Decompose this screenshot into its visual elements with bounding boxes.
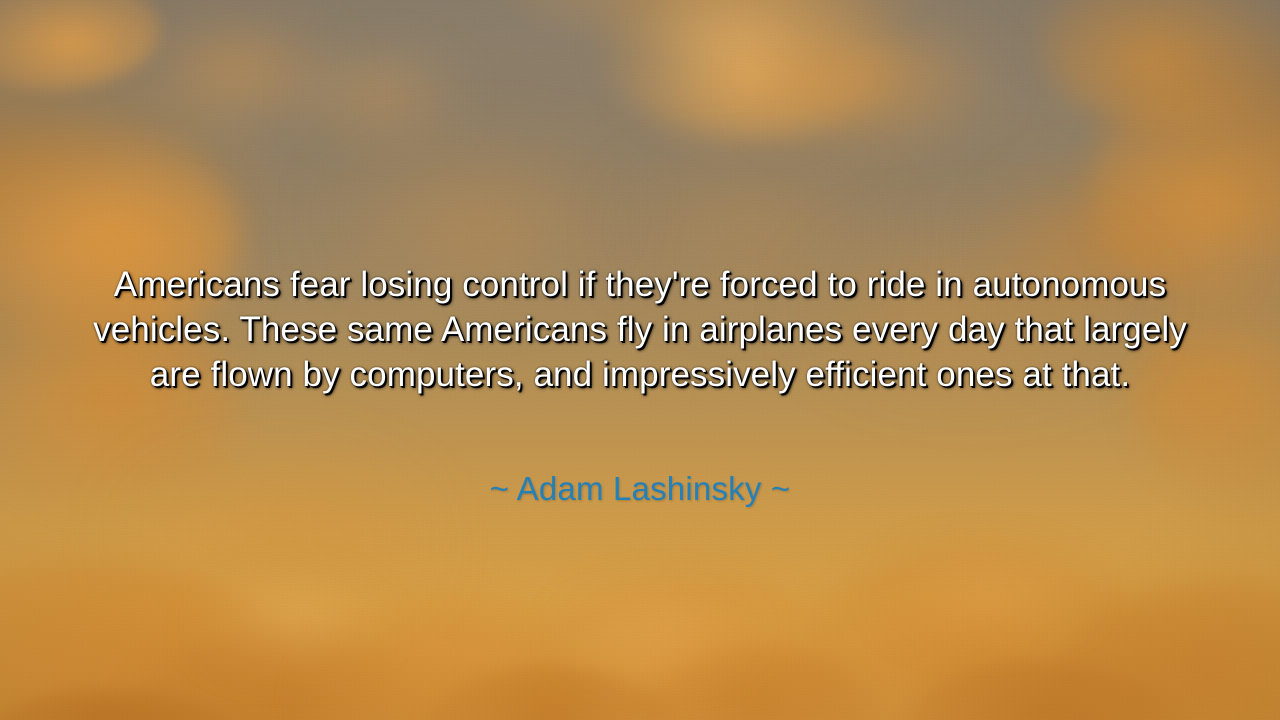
quote-text: Americans fear losing control if they're… xyxy=(64,262,1216,397)
quote-block: Americans fear losing control if they're… xyxy=(64,262,1216,397)
quote-attribution: ~ Adam Lashinsky ~ xyxy=(0,470,1280,508)
quote-card: Americans fear losing control if they're… xyxy=(0,0,1280,720)
